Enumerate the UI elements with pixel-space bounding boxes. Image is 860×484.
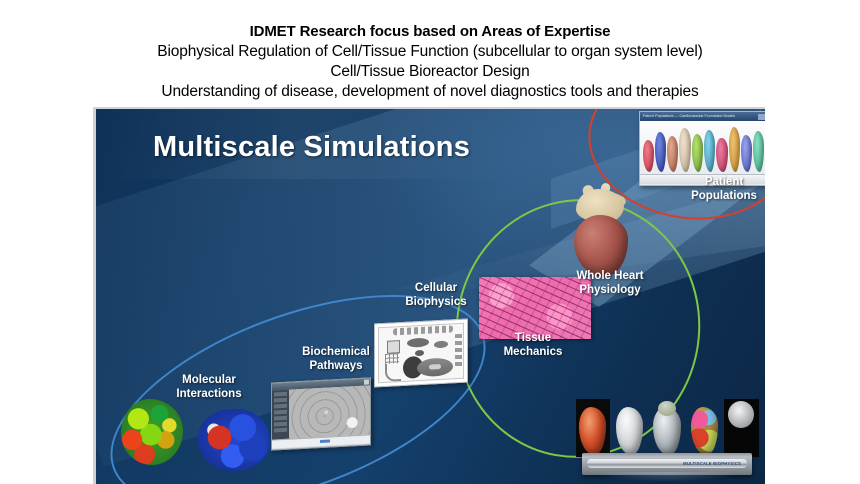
pathway-diagram-canvas <box>289 385 370 438</box>
organelle-icon <box>415 350 424 356</box>
gallery-item <box>613 399 647 457</box>
header-line-3: Cell/Tissue Bioreactor Design <box>0 62 860 82</box>
heart-model-thumb <box>729 127 740 172</box>
organelle-icon <box>407 338 429 348</box>
heart-model-thumb <box>643 140 654 172</box>
header-line-1: IDMET Research focus based on Areas of E… <box>0 22 860 42</box>
gallery-item <box>576 399 610 457</box>
header-text-block: IDMET Research focus based on Areas of E… <box>0 22 860 102</box>
window-close-icon <box>364 379 369 384</box>
window-controls-icon <box>758 114 765 120</box>
heart-model-thumb <box>667 136 678 172</box>
ion-channel-row-icon <box>393 325 453 335</box>
gallery-item <box>687 399 721 457</box>
label-cellular-biophysics: Cellular Biophysics <box>386 281 486 309</box>
heart-model-thumb <box>692 134 703 172</box>
header-line-4: Understanding of disease, development of… <box>0 82 860 102</box>
protein-structure-green-icon <box>121 399 183 465</box>
header-line-2: Biophysical Regulation of Cell/Tissue Fu… <box>0 42 860 62</box>
heart-model-thumb <box>741 135 752 172</box>
heart-model-thumb <box>679 128 690 172</box>
gallery-base-label: MULTISCALE BIOPHYSICS <box>683 461 741 466</box>
base-glow <box>594 472 740 482</box>
biochemical-pathways-screenshot <box>271 377 371 450</box>
heart-model-thumb <box>655 132 666 172</box>
gallery-row <box>574 395 760 457</box>
label-whole-heart-physiology: Whole Heart Physiology <box>558 269 662 297</box>
gallery-chrome-base: MULTISCALE BIOPHYSICS <box>582 453 752 475</box>
chrome-bar: MULTISCALE BIOPHYSICS <box>587 459 747 468</box>
window-title-bar: Patient Populations — Cardiovascular Fou… <box>640 112 765 121</box>
slide-title: Multiscale Simulations <box>153 131 470 164</box>
heart-model-thumb <box>716 138 727 172</box>
heart-model-display-gallery: MULTISCALE BIOPHYSICS <box>574 395 760 475</box>
heart-model-thumb <box>704 130 715 172</box>
label-biochemical-pathways: Biochemical Pathways <box>281 345 391 373</box>
heart-model-thumb <box>753 131 764 172</box>
ion-channel-column-icon <box>455 334 462 368</box>
label-molecular-interactions: Molecular Interactions <box>154 373 264 401</box>
heart-model-gallery <box>640 121 765 174</box>
presentation-slide: Multiscale Simulations <box>93 107 765 484</box>
gallery-item <box>650 399 684 457</box>
ventricle-region <box>574 215 628 277</box>
label-tissue-mechanics: Tissue Mechanics <box>488 331 578 359</box>
organelle-icon <box>434 341 448 349</box>
gallery-item <box>724 399 758 457</box>
protein-structure-blue-icon <box>198 409 270 471</box>
sarcomere-icon <box>417 357 453 377</box>
window-sidebar <box>272 390 289 440</box>
label-patient-populations: Patient Populations <box>674 175 765 203</box>
window-body <box>272 385 370 439</box>
window-title-text: Patient Populations — Cardiovascular Fou… <box>643 114 735 118</box>
whole-heart-anatomical-image <box>570 189 632 277</box>
